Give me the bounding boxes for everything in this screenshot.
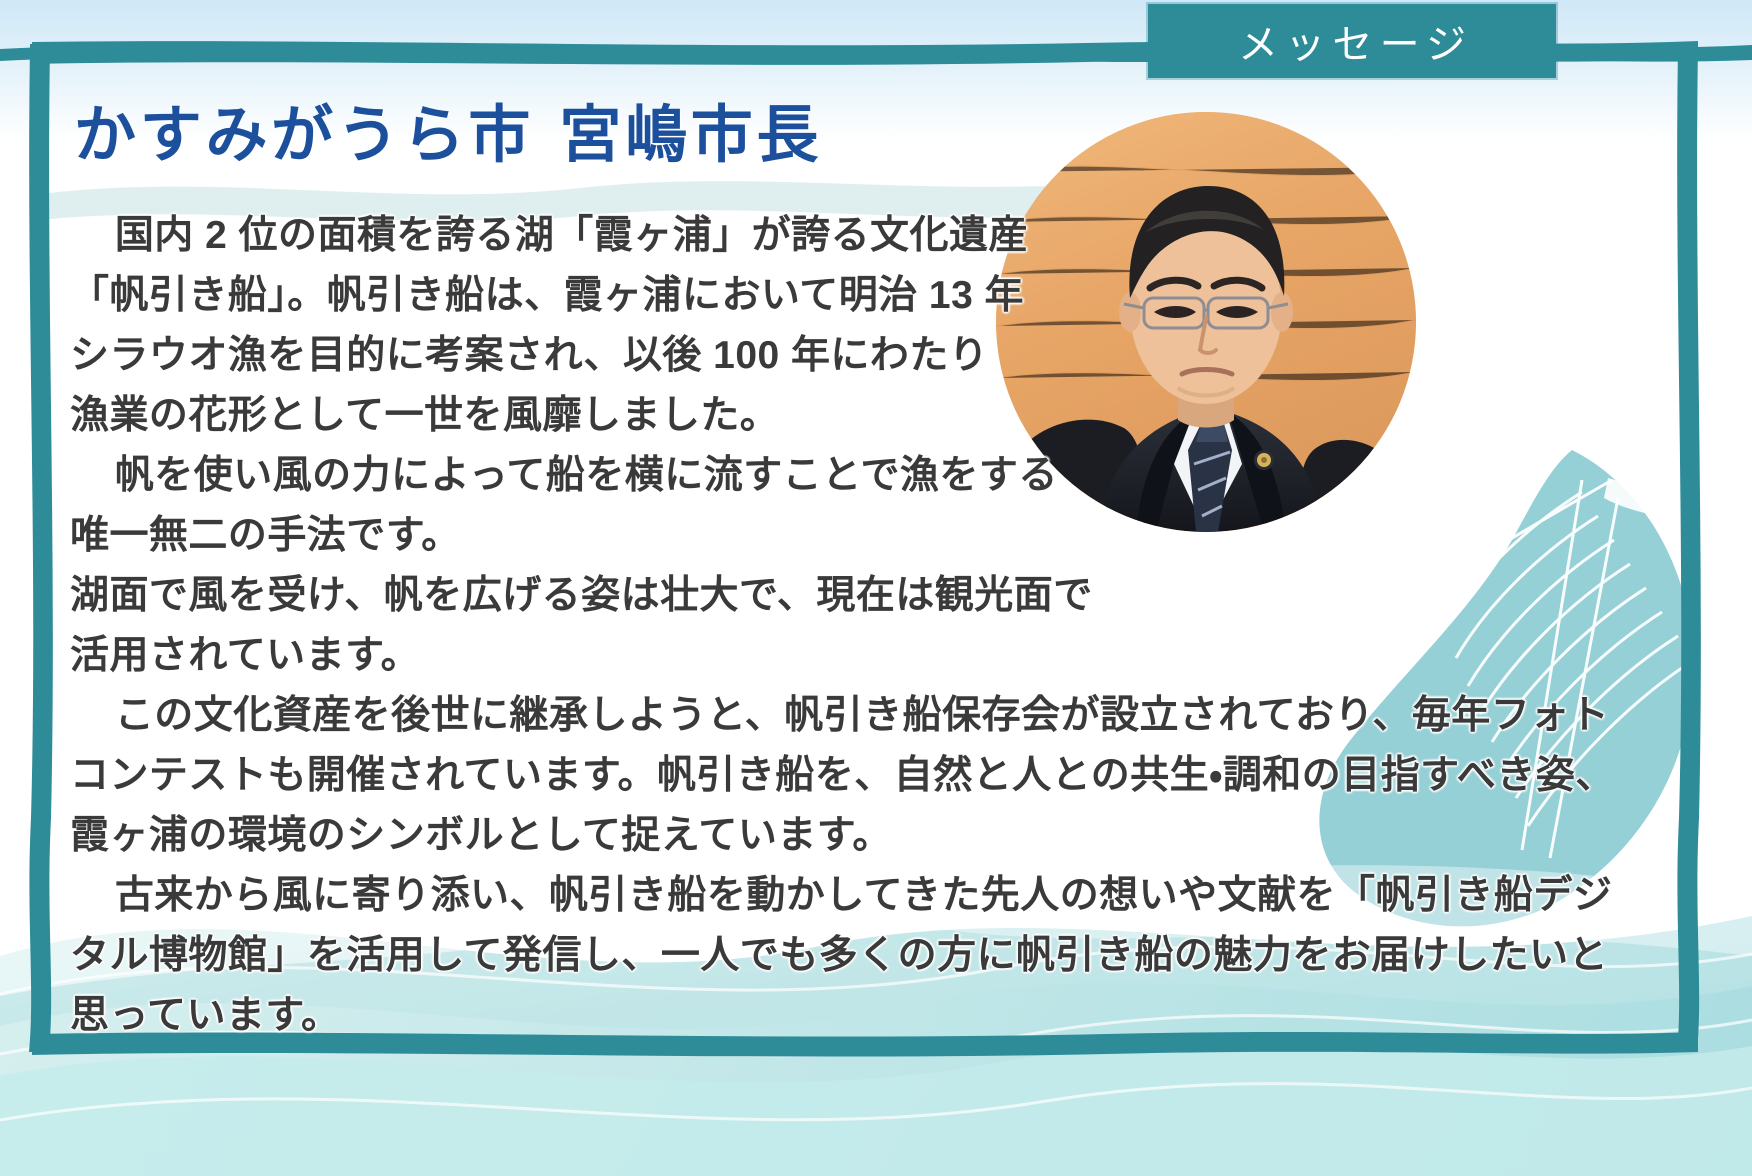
body-line: コンテストも開催されています。帆引き船を、自然と人との共生・調和の目指すべき姿、 <box>70 746 1530 806</box>
body-line: 帆を使い風の力によって船を横に流すことで漁をする <box>70 446 1530 506</box>
message-page: メッセージ かすみがうら市 宮嶋市長 <box>0 0 1752 1176</box>
body-line: 唯一無二の手法です。 <box>70 506 1530 566</box>
message-body: 国内 2 位の面積を誇る湖「霞ヶ浦」が誇る文化遺産 「帆引き船」。帆引き船は、霞… <box>70 206 1530 1046</box>
message-badge: メッセージ <box>1148 4 1556 78</box>
body-line: タル博物館」を活用して発信し、一人でも多くの方に帆引き船の魅力をお届けしたいと <box>70 926 1530 986</box>
body-line: シラウオ漁を目的に考案され、以後 100 年にわたり <box>70 326 1530 386</box>
page-title: かすみがうら市 宮嶋市長 <box>74 104 822 166</box>
message-badge-label: メッセージ <box>1231 12 1473 70</box>
body-line: 活用されています。 <box>70 626 1530 686</box>
body-line: 湖面で風を受け、帆を広げる姿は壮大で、現在は観光面で <box>70 566 1530 626</box>
body-line: 「帆引き船」。帆引き船は、霞ヶ浦において明治 13 年 <box>70 266 1530 326</box>
body-line: 古来から風に寄り添い、帆引き船を動かしてきた先人の想いや文献を「帆引き船デジ <box>70 866 1530 926</box>
body-line: 霞ヶ浦の環境のシンボルとして捉えています。 <box>70 806 1530 866</box>
body-line: 漁業の花形として一世を風靡しました。 <box>70 386 1530 446</box>
body-line: この文化資産を後世に継承しようと、帆引き船保存会が設立されており、毎年フォト <box>70 686 1530 746</box>
body-line: 思っています。 <box>70 986 1530 1046</box>
body-line: 国内 2 位の面積を誇る湖「霞ヶ浦」が誇る文化遺産 <box>70 206 1530 266</box>
